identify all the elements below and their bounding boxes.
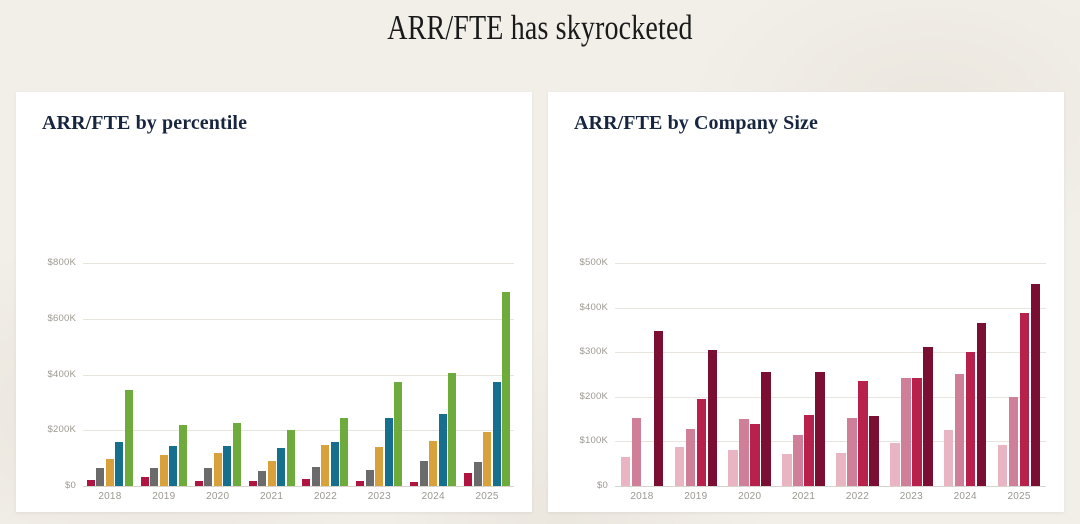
y-axis-tick-label: $500K: [556, 257, 608, 268]
bar-group-2024: [410, 263, 456, 486]
bars-layer: [615, 263, 1046, 486]
bar[interactable]: [340, 418, 348, 486]
y-axis-tick-label: $300K: [556, 346, 608, 357]
bar[interactable]: [686, 429, 696, 486]
bar[interactable]: [464, 473, 472, 486]
bar[interactable]: [858, 381, 868, 486]
bar[interactable]: [697, 399, 707, 486]
y-axis-tick-label: $800K: [24, 257, 76, 268]
x-axis-tick-label: 2021: [245, 491, 299, 502]
bar[interactable]: [728, 450, 738, 486]
bar[interactable]: [739, 419, 749, 486]
x-axis-tick-label: 2019: [669, 491, 723, 502]
card-arr-fte-by-company-size: ARR/FTE by Company Size $0$100K$200K$300…: [548, 92, 1064, 512]
x-axis-tick-label: 2020: [723, 491, 777, 502]
bar-group-2021: [249, 263, 295, 486]
bar-group-2022: [302, 263, 348, 486]
bar[interactable]: [793, 435, 803, 486]
bar[interactable]: [223, 446, 231, 486]
y-axis-tick-label: $200K: [24, 424, 76, 435]
right-chart-plot-area: $0$100K$200K$300K$400K$500K2018201920202…: [548, 92, 1064, 512]
y-axis-tick-label: $600K: [24, 313, 76, 324]
x-axis-tick-label: 2024: [406, 491, 460, 502]
bar[interactable]: [125, 390, 133, 486]
bar[interactable]: [302, 479, 310, 486]
bar[interactable]: [268, 461, 276, 486]
bar-group-2021: [782, 263, 825, 486]
page-title: ARR/FTE has skyrocketed: [108, 8, 972, 48]
bar[interactable]: [708, 350, 718, 486]
bar[interactable]: [87, 480, 95, 486]
x-axis-tick-label: 2018: [615, 491, 669, 502]
bar[interactable]: [312, 467, 320, 487]
bar[interactable]: [847, 418, 857, 486]
charts-container: ARR/FTE by percentile $0$200K$400K$600K$…: [16, 92, 1064, 512]
bar[interactable]: [160, 455, 168, 486]
bar[interactable]: [356, 481, 364, 486]
bar[interactable]: [214, 453, 222, 486]
bar[interactable]: [890, 443, 900, 486]
bar[interactable]: [761, 372, 771, 486]
bar-group-2025: [998, 263, 1041, 486]
bar[interactable]: [96, 468, 104, 486]
bar[interactable]: [675, 447, 685, 486]
bar[interactable]: [410, 482, 418, 486]
bar[interactable]: [204, 468, 212, 486]
bar-group-2024: [944, 263, 987, 486]
y-axis-tick-label: $400K: [556, 302, 608, 313]
bar-group-2019: [675, 263, 718, 486]
gridline: [615, 486, 1046, 487]
bar[interactable]: [394, 382, 402, 486]
x-axis-tick-label: 2019: [137, 491, 191, 502]
bar[interactable]: [750, 424, 760, 486]
bar[interactable]: [1031, 284, 1041, 486]
bar[interactable]: [277, 448, 285, 486]
bar-group-2020: [728, 263, 771, 486]
bar[interactable]: [150, 468, 158, 486]
x-axis-tick-label: 2020: [191, 491, 245, 502]
bar[interactable]: [420, 461, 428, 486]
bar[interactable]: [331, 442, 339, 486]
x-axis-tick-label: 2022: [299, 491, 353, 502]
bar[interactable]: [804, 415, 814, 486]
bar[interactable]: [901, 378, 911, 486]
bar[interactable]: [621, 457, 631, 486]
bar[interactable]: [439, 414, 447, 486]
bar-group-2018: [621, 263, 664, 486]
y-axis-tick-label: $400K: [24, 369, 76, 380]
bar[interactable]: [249, 481, 257, 486]
y-axis-tick-label: $200K: [556, 391, 608, 402]
bar[interactable]: [448, 373, 456, 486]
bar[interactable]: [782, 454, 792, 486]
bar[interactable]: [977, 323, 987, 486]
bar-group-2022: [836, 263, 879, 486]
bar[interactable]: [106, 459, 114, 486]
x-axis-tick-label: 2021: [777, 491, 831, 502]
x-axis-tick-label: 2023: [352, 491, 406, 502]
bar[interactable]: [654, 331, 664, 486]
bar[interactable]: [923, 347, 933, 486]
bar[interactable]: [141, 477, 149, 486]
bar[interactable]: [502, 292, 510, 486]
bar[interactable]: [632, 418, 642, 486]
bar[interactable]: [169, 446, 177, 486]
x-axis-tick-label: 2022: [831, 491, 885, 502]
bar[interactable]: [493, 382, 501, 486]
bar[interactable]: [385, 418, 393, 486]
bar[interactable]: [366, 470, 374, 486]
bar[interactable]: [233, 423, 241, 486]
bar[interactable]: [258, 471, 266, 486]
bar[interactable]: [321, 445, 329, 486]
bar[interactable]: [179, 425, 187, 486]
bar[interactable]: [944, 430, 954, 486]
y-axis-tick-label: $100K: [556, 435, 608, 446]
bar[interactable]: [912, 378, 922, 486]
card-arr-fte-by-percentile: ARR/FTE by percentile $0$200K$400K$600K$…: [16, 92, 532, 512]
bars-layer: [83, 263, 514, 486]
bar[interactable]: [966, 352, 976, 486]
bar[interactable]: [836, 453, 846, 486]
bar-group-2018: [87, 263, 133, 486]
bar[interactable]: [375, 447, 383, 486]
bar[interactable]: [287, 430, 295, 486]
x-axis-tick-label: 2018: [83, 491, 137, 502]
bar[interactable]: [429, 441, 437, 486]
bar[interactable]: [115, 442, 123, 486]
y-axis-tick-label: $0: [556, 480, 608, 491]
bar[interactable]: [869, 416, 879, 486]
bar[interactable]: [998, 445, 1008, 486]
left-chart-plot-area: $0$200K$400K$600K$800K201820192020202120…: [16, 92, 532, 512]
gridline: [83, 486, 514, 487]
x-axis-tick-label: 2023: [884, 491, 938, 502]
bar-group-2019: [141, 263, 187, 486]
bar[interactable]: [1020, 313, 1030, 486]
x-axis-tick-label: 2025: [992, 491, 1046, 502]
bar-group-2023: [356, 263, 402, 486]
bar[interactable]: [195, 481, 203, 486]
bar[interactable]: [483, 432, 491, 486]
bar[interactable]: [474, 462, 482, 486]
x-axis-tick-label: 2025: [460, 491, 514, 502]
bar-group-2025: [464, 263, 510, 486]
bar-group-2020: [195, 263, 241, 486]
bar[interactable]: [815, 372, 825, 486]
bar[interactable]: [1009, 397, 1019, 486]
bar[interactable]: [955, 374, 965, 486]
y-axis-tick-label: $0: [24, 480, 76, 491]
bar-group-2023: [890, 263, 933, 486]
x-axis-tick-label: 2024: [938, 491, 992, 502]
